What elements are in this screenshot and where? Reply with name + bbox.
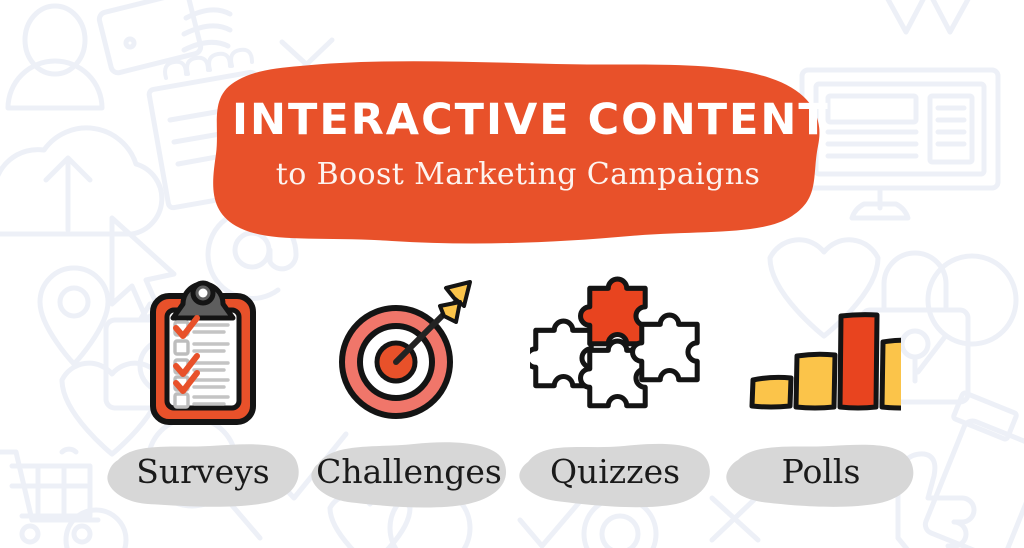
desktop-monitor-icon xyxy=(802,70,998,218)
label-text: Quizzes xyxy=(512,434,718,512)
icon-quizzes[interactable] xyxy=(512,276,718,426)
cloud-upload-icon xyxy=(0,128,162,234)
label-pill-surveys[interactable]: Surveys xyxy=(100,434,306,512)
page-subtitle: to Boost Marketing Campaigns xyxy=(232,157,804,192)
at-sign-icon xyxy=(66,510,126,548)
label-text: Polls xyxy=(718,434,924,512)
page-title: INTERACTIVE CONTENT xyxy=(232,98,804,143)
hero-text-block: INTERACTIVE CONTENT to Boost Marketing C… xyxy=(232,98,804,192)
label-pill-quizzes[interactable]: Quizzes xyxy=(512,434,718,512)
label-text: Challenges xyxy=(306,434,512,512)
label-row: Surveys Challenges Quizzes Polls xyxy=(0,434,1024,512)
tablet-in-hand-icon xyxy=(98,0,230,74)
infographic-canvas: INTERACTIVE CONTENT to Boost Marketing C… xyxy=(0,0,1024,548)
target-with-arrow-icon xyxy=(334,276,484,426)
bar-chart-icon xyxy=(741,276,901,426)
icon-challenges[interactable] xyxy=(306,276,512,426)
icon-surveys[interactable] xyxy=(100,276,306,426)
user-avatar-icon xyxy=(8,6,102,108)
label-pill-challenges[interactable]: Challenges xyxy=(306,434,512,512)
checkmark-icon xyxy=(884,0,972,32)
icon-polls[interactable] xyxy=(718,276,924,426)
label-pill-polls[interactable]: Polls xyxy=(718,434,924,512)
icon-row xyxy=(0,276,1024,436)
label-text: Surveys xyxy=(100,434,306,512)
jigsaw-puzzle-pieces-icon xyxy=(530,276,700,426)
close-x-icon xyxy=(282,40,332,86)
clipboard-checklist-icon xyxy=(143,276,263,426)
